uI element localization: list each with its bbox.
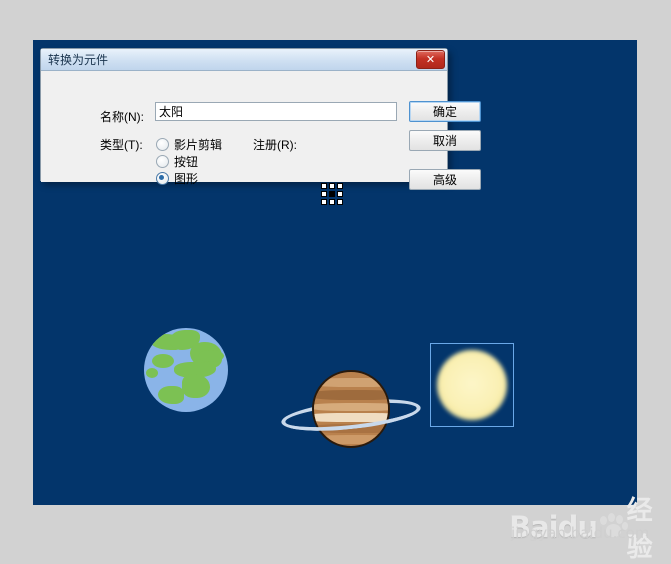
reg-cell-bottom-center[interactable] (329, 199, 335, 205)
advanced-button[interactable]: 高级 (409, 169, 481, 190)
earth-landmass (146, 368, 158, 378)
registration-point-grid-icon[interactable] (321, 183, 343, 205)
dialog-title: 转换为元件 (48, 51, 108, 68)
cancel-button[interactable]: 取消 (409, 130, 481, 151)
earth-landmass (152, 354, 174, 368)
reg-cell-top-center[interactable] (329, 183, 335, 189)
registration-label: 注册(R): (253, 136, 297, 153)
close-icon[interactable]: ✕ (416, 50, 445, 69)
stage-object-sun[interactable] (430, 343, 514, 427)
earth-landmass (198, 350, 224, 362)
stage-object-earth[interactable] (144, 328, 228, 412)
reg-cell-top-right[interactable] (337, 183, 343, 189)
dialog-body: 名称(N): 类型(T): 注册(R): 影片剪辑 按钮 图形 确定 (41, 71, 447, 182)
radio-label: 影片剪辑 (174, 136, 222, 153)
reg-cell-bottom-left[interactable] (321, 199, 327, 205)
radio-graphic[interactable]: 图形 (156, 170, 198, 187)
reg-cell-middle-left[interactable] (321, 191, 327, 197)
radio-movie-clip[interactable]: 影片剪辑 (156, 136, 222, 153)
radio-indicator (156, 155, 169, 168)
reg-cell-bottom-right[interactable] (337, 199, 343, 205)
saturn-band (312, 378, 390, 387)
radio-indicator (156, 172, 169, 185)
reg-cell-top-left[interactable] (321, 183, 327, 189)
convert-to-symbol-dialog: 转换为元件 ✕ 名称(N): 类型(T): 注册(R): 影片剪辑 按钮 图形 (40, 48, 448, 181)
radio-label: 图形 (174, 170, 198, 187)
saturn-band (312, 435, 390, 444)
reg-cell-middle-right[interactable] (337, 191, 343, 197)
watermark-brand-text: Baidu (509, 510, 597, 544)
type-label: 类型(T): (100, 136, 143, 153)
earth-landmass (182, 374, 210, 398)
watermark-url: jingyan.baidu.com (511, 524, 649, 542)
paw-icon (598, 513, 624, 541)
radio-button-type[interactable]: 按钮 (156, 153, 198, 170)
earth-landmass (158, 386, 184, 404)
reg-cell-center[interactable] (329, 191, 335, 197)
name-label: 名称(N): (100, 108, 144, 125)
selection-rectangle (430, 343, 514, 427)
radio-label: 按钮 (174, 153, 198, 170)
ok-button[interactable]: 确定 (409, 101, 481, 122)
radio-indicator (156, 138, 169, 151)
dialog-titlebar[interactable]: 转换为元件 ✕ (41, 49, 447, 71)
name-input[interactable] (155, 102, 397, 121)
stage-object-saturn[interactable] (281, 368, 421, 462)
